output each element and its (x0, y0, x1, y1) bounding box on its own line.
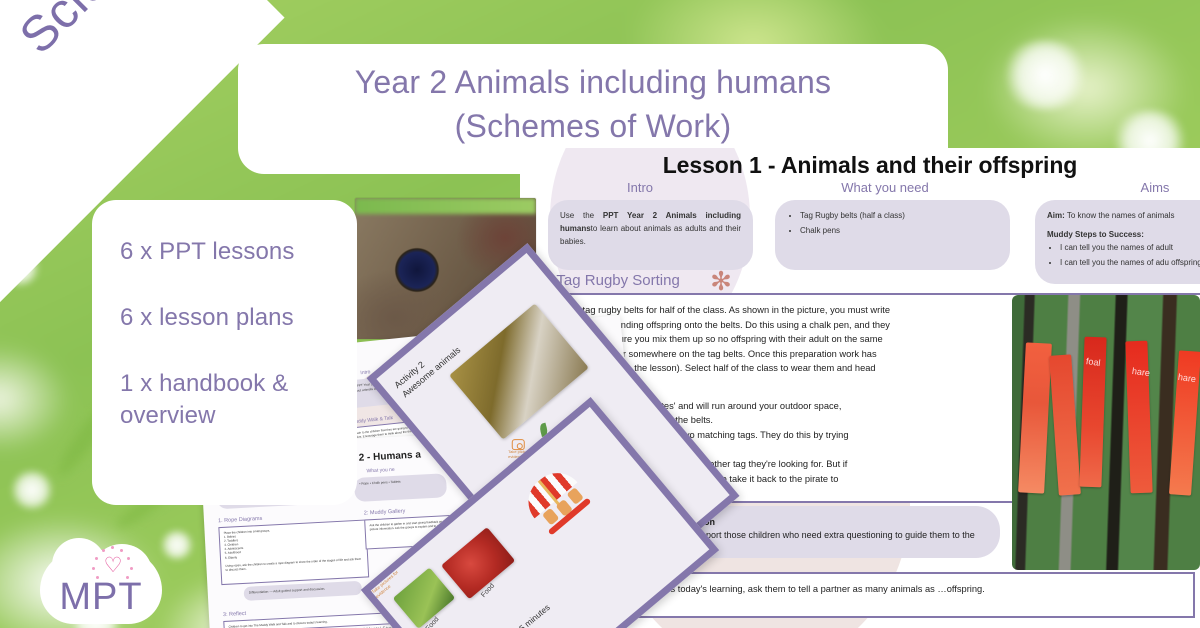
page-title-line1: Year 2 Animals including humans (238, 60, 948, 104)
aim-text: To know the names of animals (1067, 211, 1175, 220)
feature-item: 6 x PPT lessons (120, 236, 331, 268)
need-item: Chalk pens (800, 224, 998, 237)
mpt-logo-text: MPT (40, 576, 162, 619)
success-item: I can tell you the names of adult (1060, 241, 1200, 254)
belt-label: foal (1085, 356, 1101, 368)
column-heading-what-you-need: What you need (785, 180, 985, 195)
success-item: I can tell you the names of adu offsprin… (1060, 256, 1200, 269)
mini-differentiation: Differentiation — Adult guided support a… (244, 581, 363, 601)
mini-section-3: 3: Reflect (223, 611, 247, 618)
belt-strip (1018, 342, 1052, 493)
mini-need-pill: • Rope • Chalk pens • Tablets (354, 473, 447, 502)
heart-icon: ♡ (100, 554, 126, 578)
aims-pill: Aim: To know the names of animals Muddy … (1035, 200, 1200, 284)
photo-green-edge (355, 198, 536, 214)
daisy (1000, 40, 1090, 110)
column-heading-aims: Aims (1100, 180, 1200, 195)
meat-photo (441, 527, 515, 599)
belt-strip (1049, 354, 1081, 495)
mpt-logo: ♡ MPT (40, 540, 162, 626)
carousel-illustration (518, 461, 596, 538)
daisy (10, 470, 54, 510)
mini-heading-need: What you ne (366, 467, 394, 474)
section1-title: Tag Rugby Sorting (556, 272, 679, 289)
mini-section-2: 2: Muddy Gallery (364, 508, 406, 516)
feature-item: 6 x lesson plans (120, 302, 331, 334)
belt-strip (1125, 341, 1152, 494)
need-item: Tag Rugby belts (half a class) (800, 209, 998, 222)
aim-label: Aim: (1047, 211, 1065, 220)
feature-item: 1 x handbook & overview (120, 368, 331, 432)
tag-rugby-belts-photo: foal hare hare (1012, 295, 1200, 570)
intro-prefix: Use the (560, 211, 603, 220)
page-title-line2: (Schemes of Work) (238, 104, 948, 148)
features-card: 6 x PPT lessons 6 x lesson plans 1 x han… (92, 200, 357, 505)
mini-section-1: 1. Rope Diagrams (218, 516, 263, 524)
column-heading-intro: Intro (560, 180, 720, 195)
lesson-doc-title: Lesson 1 - Animals and their offspring (520, 152, 1200, 179)
splat-icon: ✻ (708, 268, 734, 294)
intro-pill: Use the PPT Year 2 Animals including hum… (548, 200, 753, 270)
what-you-need-pill: Tag Rugby belts (half a class) Chalk pen… (775, 200, 1010, 270)
daisy (160, 530, 194, 560)
success-label: Muddy Steps to Success: (1047, 230, 1144, 239)
mini-section1-box: Place the children into small groups.1. … (218, 519, 369, 585)
